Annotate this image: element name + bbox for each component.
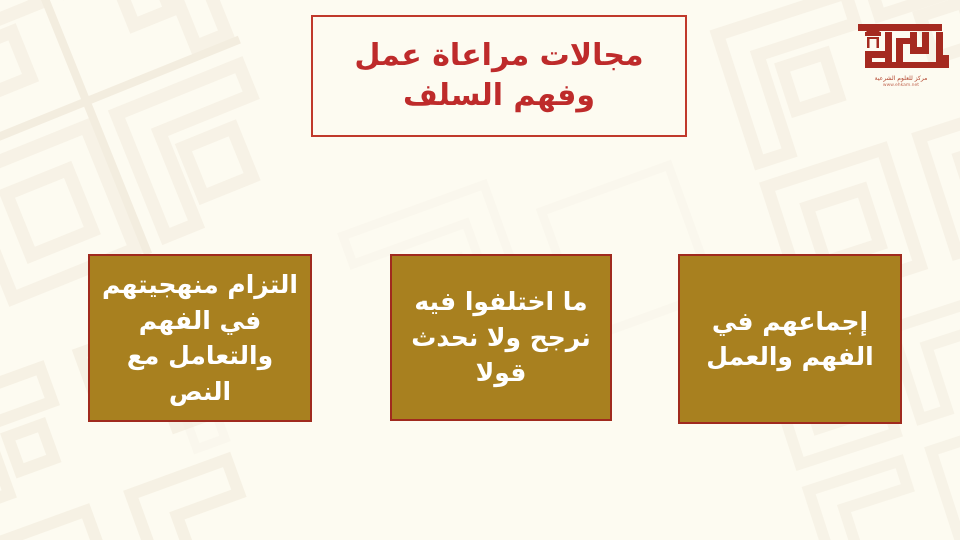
page-title: مجالات مراعاة عمل وفهم السلف [329, 36, 669, 117]
concept-box-middle[interactable]: ما اختلفوا فيه نرجح ولا نحدث قولا [390, 254, 612, 421]
concept-box-middle-label: ما اختلفوا فيه نرجح ولا نحدث قولا [402, 284, 600, 391]
brand-logo-url: www.ehkam.net [852, 83, 950, 88]
slide-title-card: مجالات مراعاة عمل وفهم السلف [311, 15, 687, 137]
ehkam-wordmark-icon [852, 18, 950, 74]
brand-logo-subtitle: مركز للعلوم الشرعية [852, 75, 950, 82]
concept-box-right[interactable]: إجماعهم في الفهم والعمل [678, 254, 902, 424]
brand-logo: مركز للعلوم الشرعية www.ehkam.net [852, 18, 950, 90]
concept-box-right-label: إجماعهم في الفهم والعمل [690, 304, 890, 375]
concept-box-left[interactable]: التزام منهجيتهم في الفهم والتعامل مع الن… [88, 254, 312, 422]
concept-box-left-label: التزام منهجيتهم في الفهم والتعامل مع الن… [100, 267, 300, 409]
presentation-slide: مجالات مراعاة عمل وفهم السلف إجماعهم في … [0, 0, 960, 540]
